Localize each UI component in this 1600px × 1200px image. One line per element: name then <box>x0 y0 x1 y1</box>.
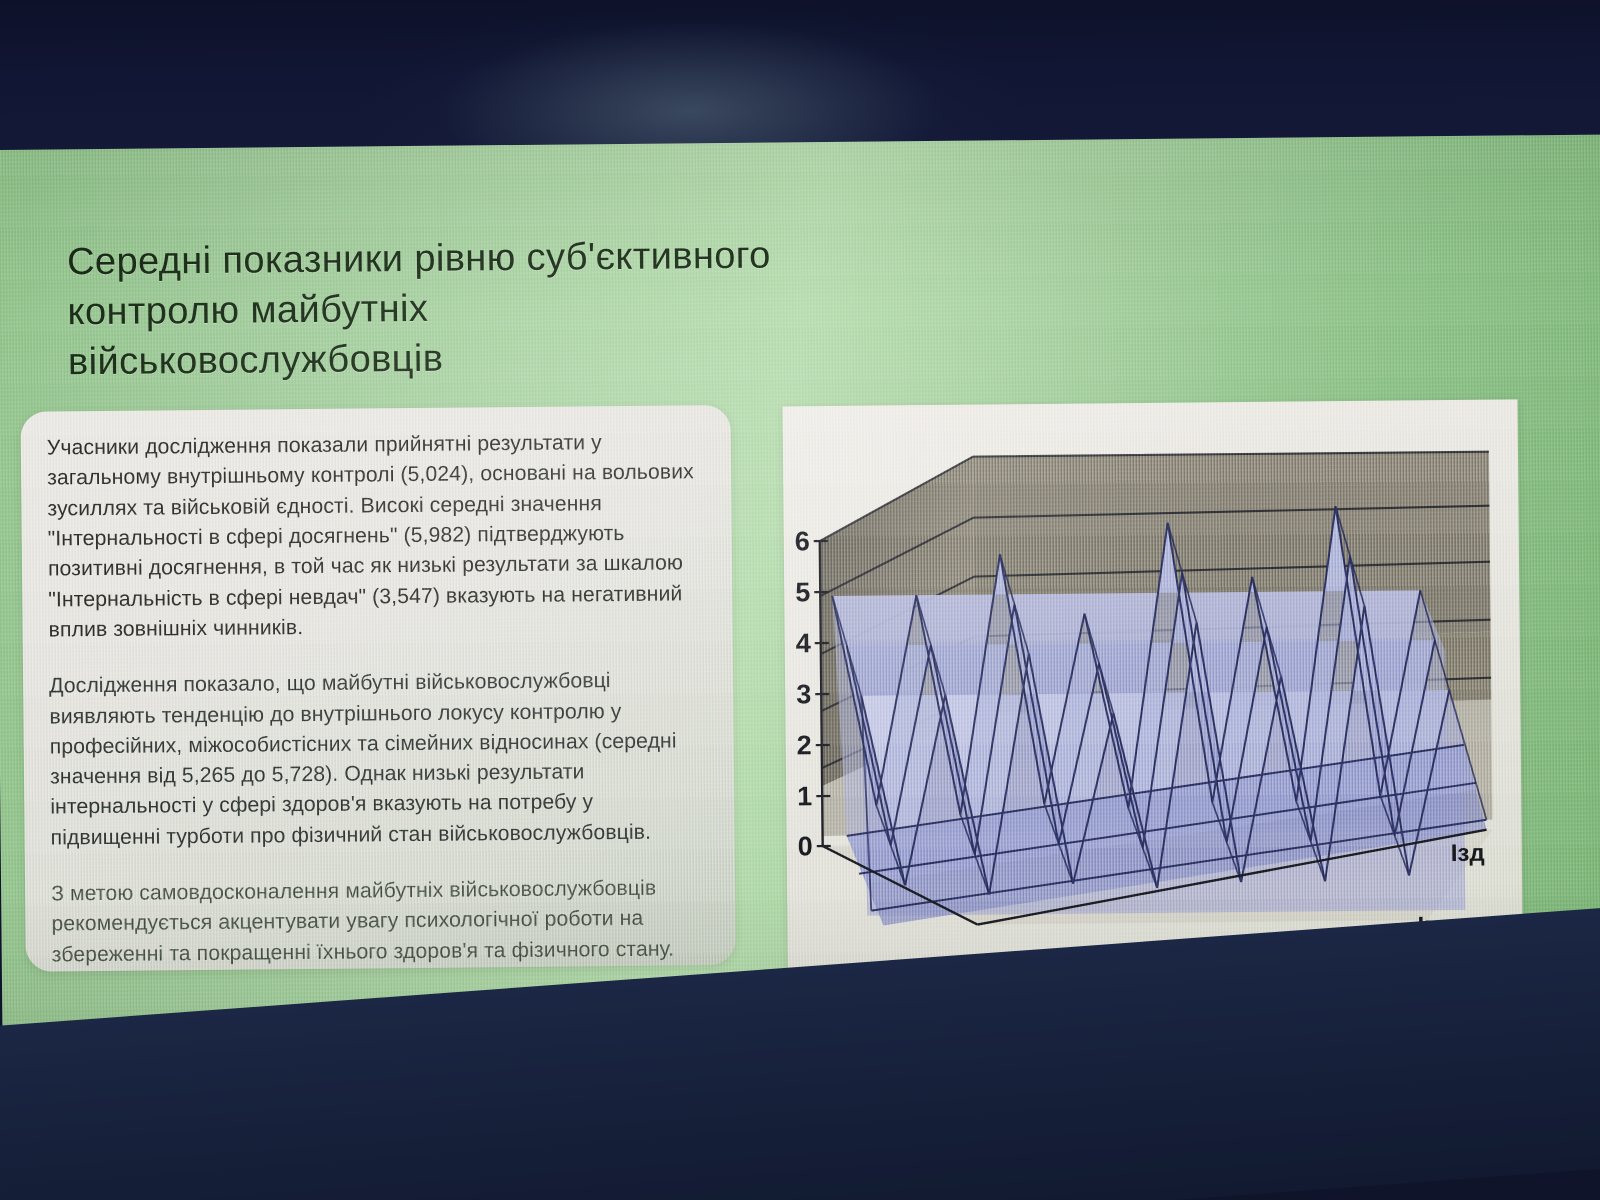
y-tick-2: 2 <box>782 730 811 761</box>
paragraph-findings: Учасники дослідження показали прийнятні … <box>47 427 707 645</box>
presentation-slide: Середні показники рівню суб'єктивного ко… <box>0 134 1600 1055</box>
text-content-card: Учасники дослідження показали прийнятні … <box>21 405 736 972</box>
slide-title-line-1: Середні показники рівню суб'єктивного <box>67 229 947 288</box>
y-tick-4: 4 <box>782 628 810 659</box>
y-tick-0: 0 <box>782 831 812 862</box>
slide-title: Середні показники рівню суб'єктивного ко… <box>67 229 948 388</box>
y-tick-5: 5 <box>782 577 810 608</box>
depth-label-izd: Ізд <box>1451 840 1485 868</box>
screen-photo: Середні показники рівню суб'єктивного ко… <box>0 0 1600 1200</box>
paragraph-recommendation: З метою самовдосконалення майбутніх війс… <box>51 873 710 970</box>
paragraph-analysis: Дослідження показало, що майбутні військ… <box>49 665 709 853</box>
slide-title-line-3: військовослужбовців <box>68 329 948 388</box>
slide-title-line-2: контролю майбутніх <box>67 279 947 338</box>
y-tick-6: 6 <box>782 526 809 557</box>
y-tick-1: 1 <box>782 781 812 812</box>
y-tick-3: 3 <box>782 679 811 710</box>
